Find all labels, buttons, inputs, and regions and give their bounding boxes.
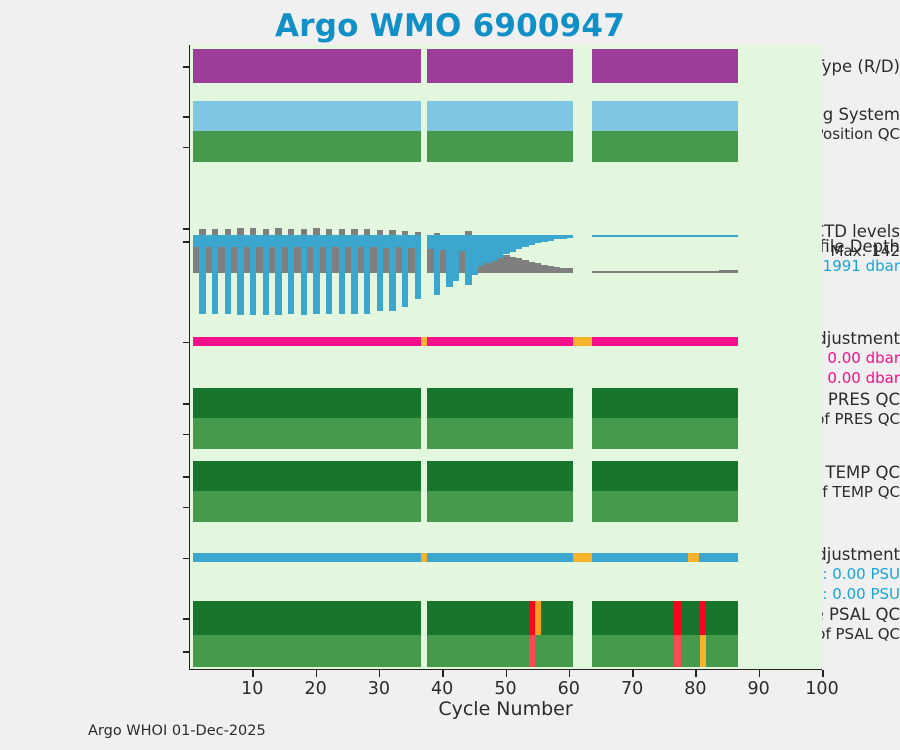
positioning-system-block-1 [427,101,459,131]
y-tick-mode-temp-qc [183,507,190,509]
x-tick-80 [695,670,697,677]
x-tick-100 [822,670,824,677]
date-type-block-0 [193,49,421,83]
mode-of-pres-qc-block-3 [592,418,738,449]
position-qc-block-1 [427,131,459,162]
position-qc-block-0 [193,131,421,162]
mode-of-temp-qc-block-3 [592,491,738,522]
profile-pres-qc-block-2 [459,388,573,418]
figure-footer: Argo WHOI 01-Dec-2025 [88,723,266,739]
x-tick-10 [252,670,254,677]
mode-of-psal-qc-block-1 [427,635,459,667]
date-type-block-1 [427,49,459,83]
mode-of-pres-qc-block-2 [459,418,573,449]
psal-adjustment-block-2 [459,553,573,562]
psal-adjustment-block-3 [592,553,738,562]
profile-pres-qc-block-1 [427,388,459,418]
pres-adjustment-block-3 [592,337,738,346]
mode-of-temp-qc-block-2 [459,491,573,522]
x-tick-label-40: 40 [431,679,453,699]
positioning-system-block-3 [592,101,738,131]
psal-adjustment-block-1 [427,553,459,562]
y-tick-date-type [183,66,190,68]
x-tick-40 [442,670,444,677]
date-type-block-3 [592,49,738,83]
y-tick-profile-pres-qc [183,403,190,405]
page-title: Argo WMO 6900947 [0,8,900,44]
psal-adjustment-block-0 [193,553,421,562]
argo-profile-summary-figure: Argo WMO 6900947 Date Type (R/D)Position… [0,0,900,750]
psal-qc-flag [700,601,706,635]
psal-adjustment-gapfill-extra [688,553,699,562]
profile-depth-bar [415,235,421,299]
psal-qc-mode-flag [700,635,706,667]
profile-psal-qc-block-0 [193,601,421,635]
psal-qc-flag [535,601,541,635]
y-tick-profile-depth [183,241,190,243]
mode-of-psal-qc-block-2 [459,635,573,667]
mode-of-psal-qc-block-0 [193,635,421,667]
profile-psal-qc-block-1 [427,601,459,635]
y-tick-positioning [183,116,190,118]
psal-qc-mode-flag [529,635,535,667]
y-tick-profile-temp-qc [183,476,190,478]
mode-of-temp-qc-block-0 [193,491,421,522]
profile-temp-qc-block-0 [193,461,421,491]
psal-qc-mode-flag [674,635,680,667]
x-tick-label-20: 20 [304,679,326,699]
x-tick-label-100: 100 [805,679,838,699]
y-tick-mode-pres-qc [183,434,190,436]
y-tick-psal-adjustment [183,558,190,560]
x-tick-label-70: 70 [621,679,643,699]
y-tick-pres-adjustment [183,342,190,344]
x-tick-label-10: 10 [241,679,263,699]
pres-adjustment-block-2 [459,337,573,346]
profile-temp-qc-block-2 [459,461,573,491]
profile-pres-qc-block-3 [592,388,738,418]
x-tick-90 [759,670,761,677]
y-tick-ctd-levels [183,228,190,230]
profile-depth-bar [731,235,737,237]
x-tick-30 [379,670,381,677]
profile-pres-qc-block-0 [193,388,421,418]
x-axis-title: Cycle Number [189,698,822,720]
position-qc-block-2 [459,131,573,162]
psal-qc-flag [674,601,680,635]
mode-of-temp-qc-block-1 [427,491,459,522]
mode-of-pres-qc-block-1 [427,418,459,449]
x-tick-60 [569,670,571,677]
pres-adjustment-block-1 [427,337,459,346]
x-tick-label-30: 30 [368,679,390,699]
y-tick-mode-psal-qc [183,651,190,653]
y-tick-position-qc [183,147,190,149]
x-tick-label-50: 50 [494,679,516,699]
positioning-system-block-0 [193,101,421,131]
x-tick-70 [632,670,634,677]
ctd-levels-bar [731,270,737,273]
date-type-block-2 [459,49,573,83]
profile-temp-qc-block-3 [592,461,738,491]
plot-area [189,45,822,670]
profile-temp-qc-block-1 [427,461,459,491]
profile-psal-qc-block-3 [592,601,738,635]
mode-of-pres-qc-block-0 [193,418,421,449]
ctd-levels-bar [567,268,573,273]
plot-canvas [190,45,822,669]
x-tick-label-80: 80 [684,679,706,699]
mode-of-psal-qc-block-3 [592,635,738,667]
x-tick-20 [316,670,318,677]
x-tick-label-90: 90 [748,679,770,699]
x-tick-50 [506,670,508,677]
x-tick-label-60: 60 [558,679,580,699]
pres-adjustment-block-0 [193,337,421,346]
y-tick-profile-psal-qc [183,618,190,620]
positioning-system-block-2 [459,101,573,131]
profile-psal-qc-block-2 [459,601,573,635]
position-qc-block-3 [592,131,738,162]
profile-depth-bar [567,235,573,238]
